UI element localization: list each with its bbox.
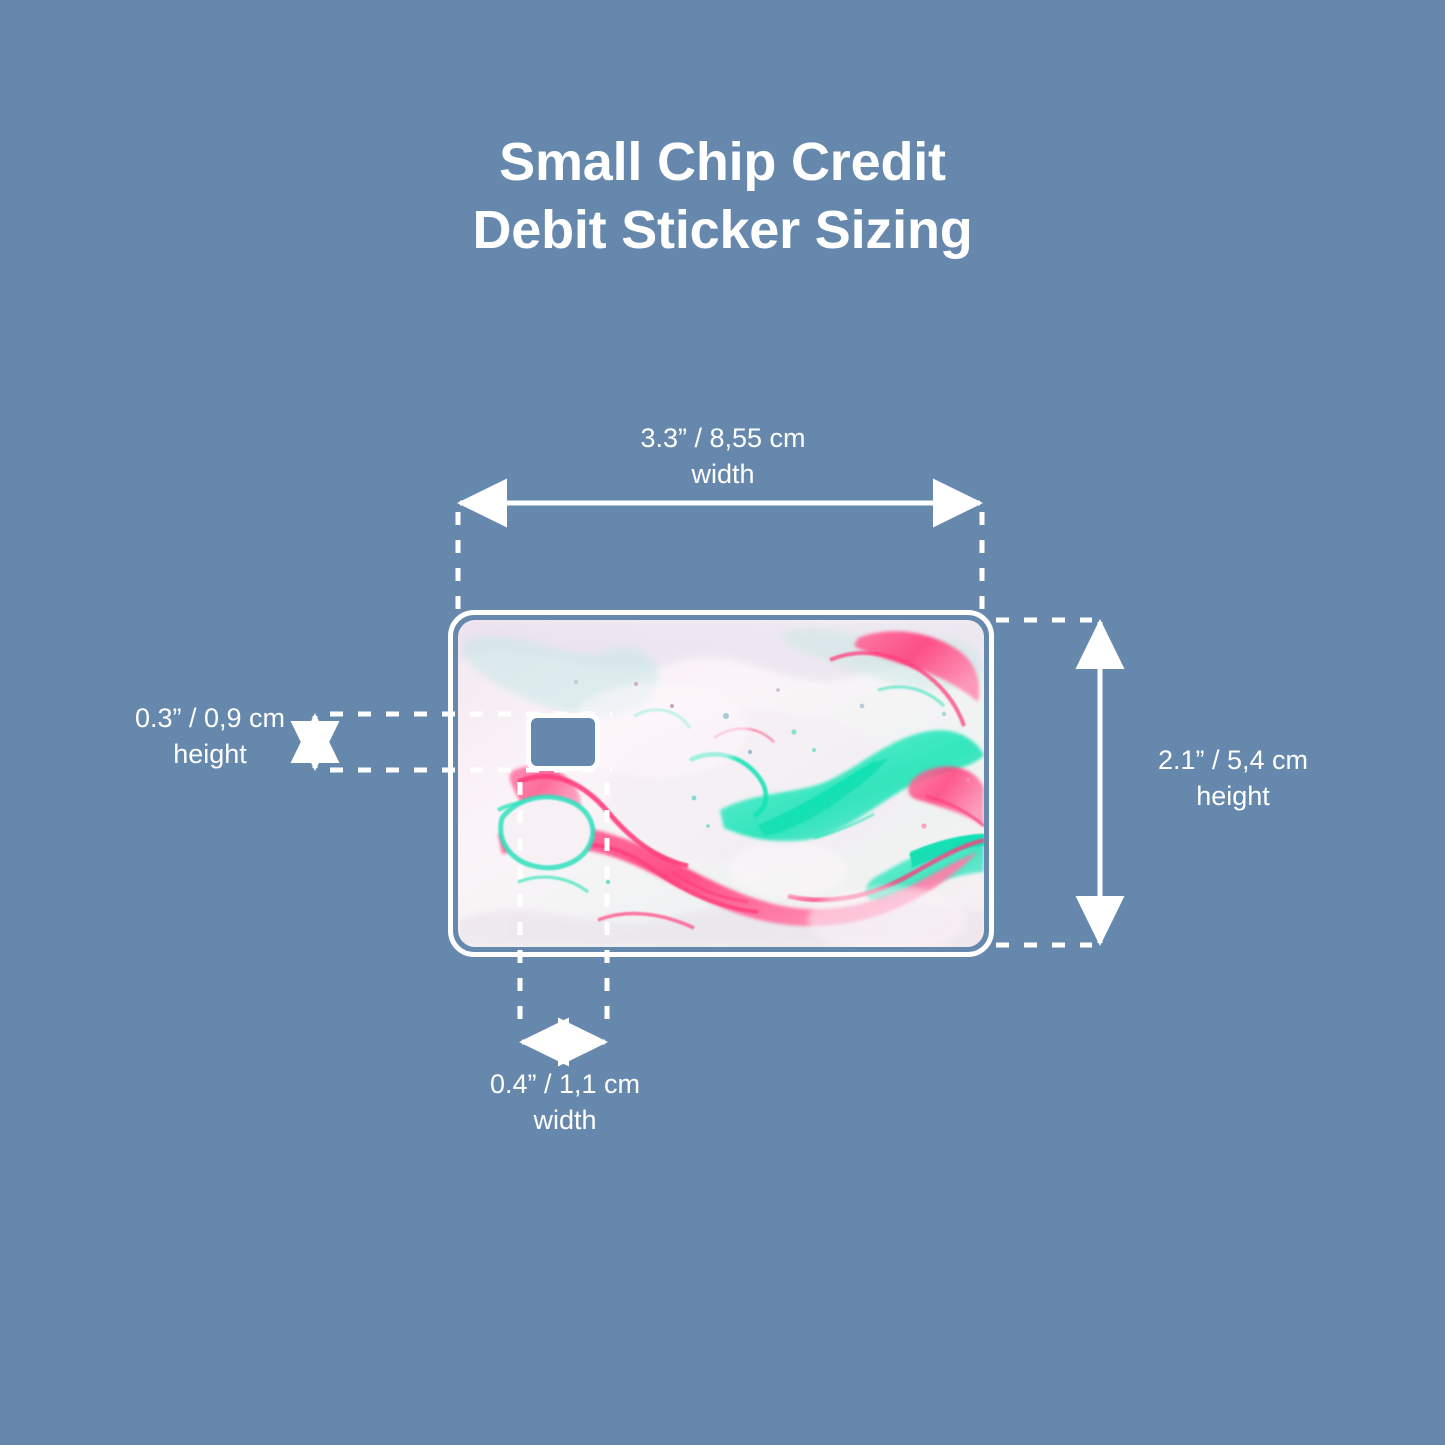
- label-chip-width-axis: width: [440, 1102, 690, 1138]
- label-card-width-measure: 3.3” / 8,55 cm: [640, 423, 805, 453]
- label-chip-height-measure: 0.3” / 0,9 cm: [135, 703, 285, 733]
- label-card-width-axis: width: [573, 456, 873, 492]
- label-chip-width-measure: 0.4” / 1,1 cm: [490, 1069, 640, 1099]
- marble-artwork-svg: [458, 620, 984, 947]
- guide-card-height: [996, 620, 1100, 945]
- label-chip-height-axis: height: [95, 736, 325, 772]
- label-card-width: 3.3” / 8,55 cm width: [573, 420, 873, 492]
- label-card-height-measure: 2.1” / 5,4 cm: [1158, 745, 1308, 775]
- sizing-diagram: Small Chip Credit Debit Sticker Sizing: [0, 0, 1445, 1445]
- page-title: Small Chip Credit Debit Sticker Sizing: [0, 128, 1445, 264]
- label-card-height: 2.1” / 5,4 cm height: [1118, 742, 1348, 814]
- guide-card-width: [458, 503, 982, 624]
- page-title-line-1: Small Chip Credit: [0, 128, 1445, 196]
- label-card-height-axis: height: [1118, 778, 1348, 814]
- label-chip-width: 0.4” / 1,1 cm width: [440, 1066, 690, 1138]
- chip-cutout: [526, 713, 600, 771]
- card-artwork: [458, 620, 984, 947]
- page-title-line-2: Debit Sticker Sizing: [0, 196, 1445, 264]
- label-chip-height: 0.3” / 0,9 cm height: [95, 700, 325, 772]
